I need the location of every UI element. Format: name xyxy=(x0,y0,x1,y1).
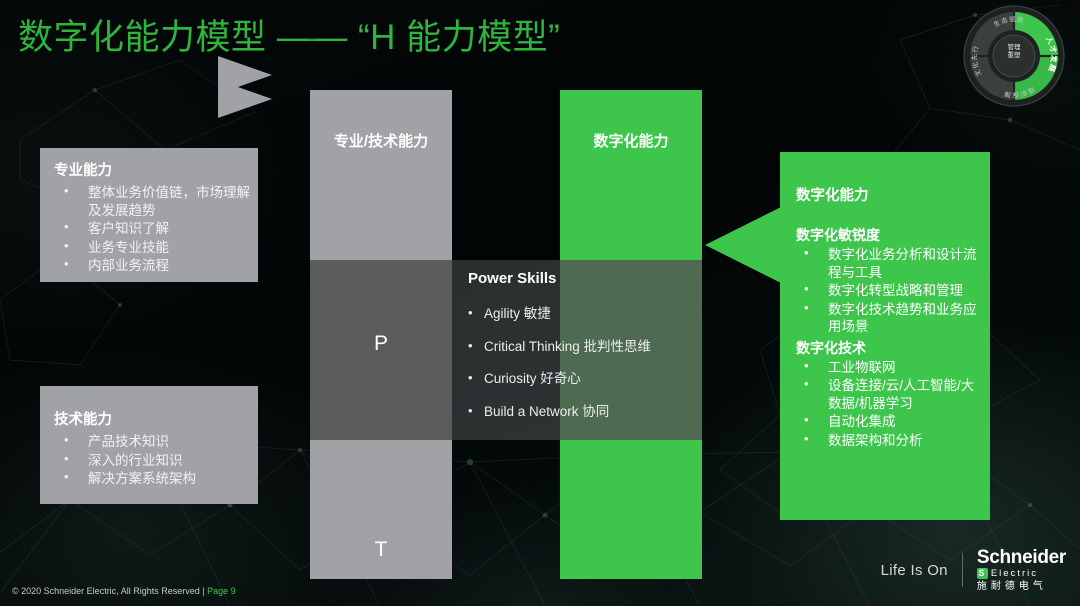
donut-diagram: 生态赋能 人才发展 组织保障 文化先行 管理重塑 xyxy=(962,4,1066,108)
list-item: 整体业务价值链，市场理解及发展趋势 xyxy=(54,184,250,219)
callout-arrow-technical xyxy=(218,56,272,94)
list-item: 产品技术知识 xyxy=(54,433,250,451)
page-number: Page 9 xyxy=(207,586,236,596)
list-item: 业务专业技能 xyxy=(54,239,250,257)
callout-digital: 数字化能力 数字化敏锐度 数字化业务分析和设计流程与工具 数字化转型战略和管理 … xyxy=(780,152,990,520)
callout-digital-title: 数字化能力 xyxy=(796,184,980,205)
list-item: 深入的行业知识 xyxy=(54,452,250,470)
brand-name: Schneider xyxy=(977,548,1066,567)
brand-lockup: Life Is On Schneider S Electric 施耐德电气 xyxy=(881,548,1066,592)
list-item: 解决方案系统架构 xyxy=(54,470,250,488)
brand-name-cn: 施耐德电气 xyxy=(977,582,1066,592)
list-item: 设备连接/云/人工智能/大数据/机器学习 xyxy=(796,377,980,412)
life-is-on-tagline: Life Is On xyxy=(881,562,948,579)
callout-technical-list: 产品技术知识 深入的行业知识 解决方案系统架构 xyxy=(54,433,250,488)
brand-divider xyxy=(962,553,963,587)
callout-digital-subtitle-acumen: 数字化敏锐度 xyxy=(796,225,980,245)
power-skills-band: P Power Skills Agility 敏捷 Critical Think… xyxy=(310,260,702,440)
list-item: 工业物联网 xyxy=(796,359,980,377)
list-item: Build a Network 协同 xyxy=(466,405,702,419)
list-item: 内部业务流程 xyxy=(54,257,250,275)
column-right-heading: 数字化能力 xyxy=(560,130,702,151)
footer-copyright: © 2020 Schneider Electric, All Rights Re… xyxy=(12,586,236,596)
life-is-on-text: Life Is On xyxy=(881,562,948,579)
slide-canvas: 数字化能力模型 —— “H 能力模型” 专业/技术能力 F T 数字化能力 D … xyxy=(0,0,1080,606)
callout-digital-subtitle-tech: 数字化技术 xyxy=(796,338,980,358)
band-letter-p: P xyxy=(310,332,452,356)
callout-professional-list: 整体业务价值链，市场理解及发展趋势 客户知识了解 业务专业技能 内部业务流程 xyxy=(54,184,250,275)
donut-center-label: 管理重塑 xyxy=(962,44,1066,60)
copyright-text: © 2020 Schneider Electric, All Rights Re… xyxy=(12,586,205,596)
callout-technical-title: 技术能力 xyxy=(54,408,250,429)
list-item: Curiosity 好奇心 xyxy=(466,372,702,386)
list-item: Agility 敏捷 xyxy=(466,307,702,321)
callout-professional: 专业能力 整体业务价值链，市场理解及发展趋势 客户知识了解 业务专业技能 内部业… xyxy=(40,148,258,282)
callout-technical: 技术能力 产品技术知识 深入的行业知识 解决方案系统架构 xyxy=(40,386,258,504)
list-item: 客户知识了解 xyxy=(54,220,250,238)
page-title: 数字化能力模型 —— “H 能力模型” xyxy=(18,16,560,60)
power-skills-content: Power Skills Agility 敏捷 Critical Thinkin… xyxy=(452,270,702,437)
list-item: Critical Thinking 批判性思维 xyxy=(466,340,702,354)
list-item: 数字化业务分析和设计流程与工具 xyxy=(796,246,980,281)
list-item: 数字化转型战略和管理 xyxy=(796,282,980,300)
list-item: 自动化集成 xyxy=(796,413,980,431)
schneider-electric-logo: Schneider S Electric 施耐德电气 xyxy=(977,548,1066,592)
callout-arrow-digital xyxy=(705,207,781,283)
power-skills-title: Power Skills xyxy=(452,270,702,287)
brand-sub: Electric xyxy=(991,569,1038,579)
callout-digital-list-acumen: 数字化业务分析和设计流程与工具 数字化转型战略和管理 数字化技术趋势和业务应用场… xyxy=(796,246,980,336)
callout-professional-title: 专业能力 xyxy=(54,159,250,180)
list-item: 数字化技术趋势和业务应用场景 xyxy=(796,301,980,336)
brand-sub-row: S Electric xyxy=(977,568,1066,579)
schneider-mark-icon: S xyxy=(977,568,988,579)
list-item: 数据架构和分析 xyxy=(796,432,980,450)
callout-digital-list-tech: 工业物联网 设备连接/云/人工智能/大数据/机器学习 自动化集成 数据架构和分析 xyxy=(796,359,980,450)
column-left-heading: 专业/技术能力 xyxy=(310,130,452,151)
column-letter-t: T xyxy=(310,538,452,562)
power-skills-list: Agility 敏捷 Critical Thinking 批判性思维 Curio… xyxy=(452,307,702,418)
